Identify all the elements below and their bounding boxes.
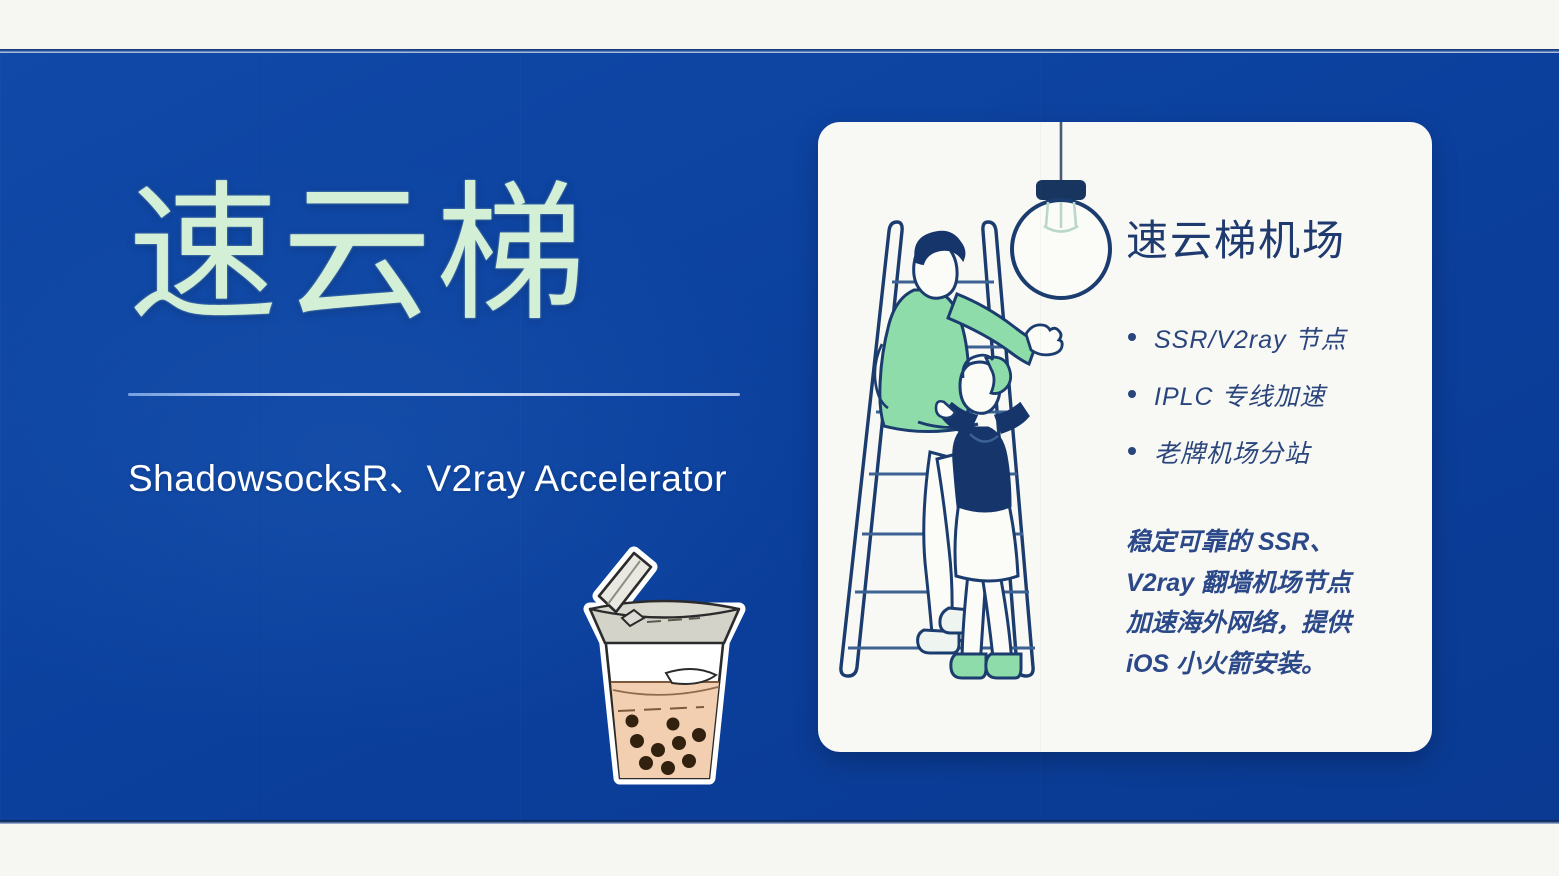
title-divider xyxy=(128,393,740,396)
bubble-tea-sticker xyxy=(572,525,757,795)
paragraph-line: iOS 小火箭安装。 xyxy=(1126,644,1418,685)
slide-canvas: 速云梯 ShadowsocksR、V2ray Accelerator xyxy=(0,0,1559,876)
paragraph-line: 加速海外网络，提供 xyxy=(1126,603,1418,644)
lightbulb-icon xyxy=(1012,122,1110,298)
paragraph-line: V2ray 翻墙机场节点 xyxy=(1126,563,1418,604)
blue-slide: 速云梯 ShadowsocksR、V2ray Accelerator xyxy=(0,53,1559,820)
feature-card: 速云梯机场 SSR/V2ray 节点 IPLC 专线加速 老牌机场分站 稳定可靠… xyxy=(818,122,1432,752)
bottom-letterbox-band xyxy=(0,824,1559,876)
card-text-column: 速云梯机场 SSR/V2ray 节点 IPLC 专线加速 老牌机场分站 稳定可靠… xyxy=(1118,122,1432,752)
page-subtitle: ShadowsocksR、V2ray Accelerator xyxy=(128,448,748,502)
card-heading: 速云梯机场 xyxy=(1126,207,1418,268)
page-title: 速云梯 xyxy=(128,173,748,335)
card-paragraph: 稳定可靠的 SSR、 V2ray 翻墙机场节点 加速海外网络，提供 iOS 小火… xyxy=(1126,522,1418,684)
feature-list: SSR/V2ray 节点 IPLC 专线加速 老牌机场分站 xyxy=(1126,320,1418,470)
people-ladder-lightbulb-illustration xyxy=(818,122,1118,752)
left-text-block: 速云梯 ShadowsocksR、V2ray Accelerator xyxy=(128,173,748,502)
paragraph-line: 稳定可靠的 SSR、 xyxy=(1126,522,1418,563)
list-item: SSR/V2ray 节点 xyxy=(1126,320,1418,356)
top-letterbox-band xyxy=(0,0,1559,49)
list-item: IPLC 专线加速 xyxy=(1126,377,1418,413)
list-item: 老牌机场分站 xyxy=(1126,434,1418,470)
